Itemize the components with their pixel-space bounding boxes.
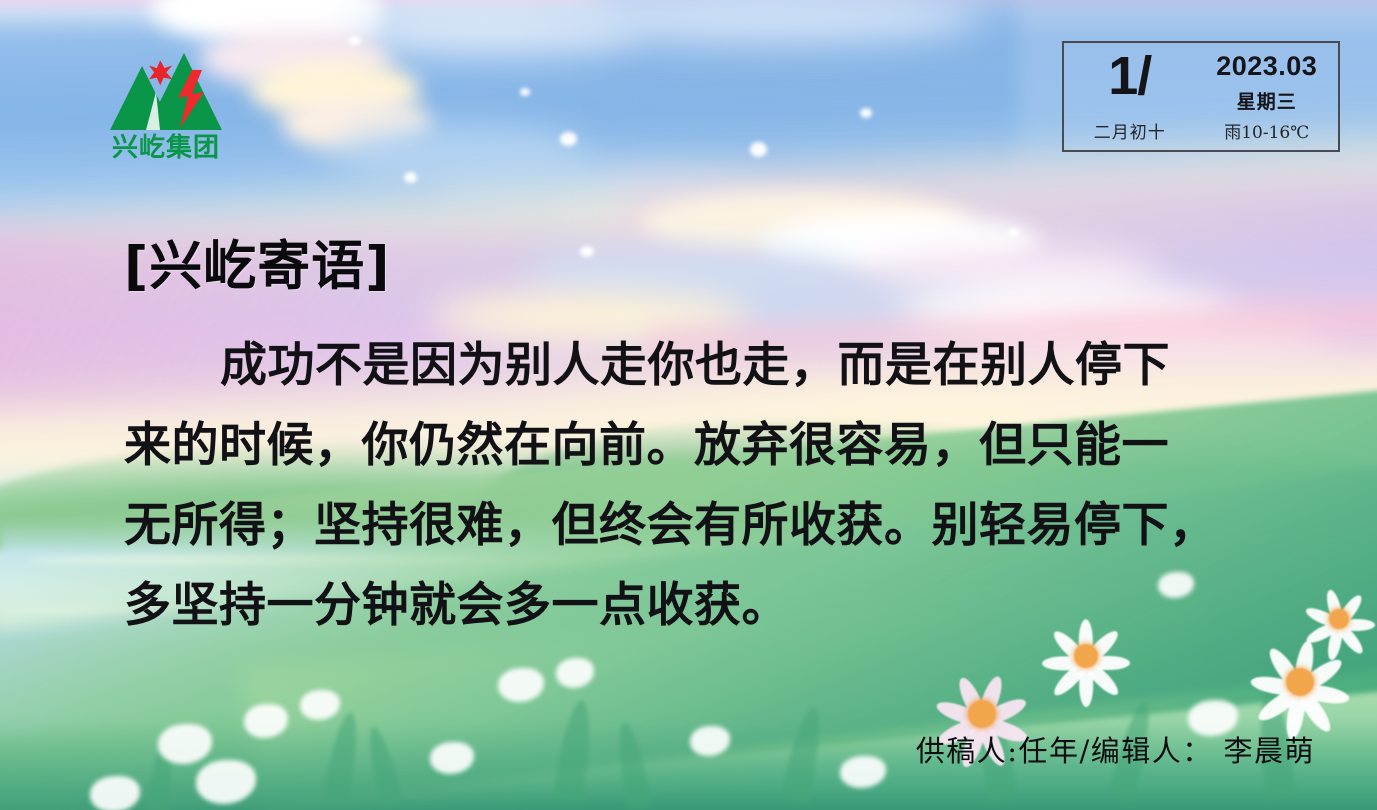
quote-paragraph: 成功不是因为别人走你也走，而是在别人停下 来的时候，你仍然在向前。放弃很容易，但…: [124, 326, 1294, 646]
quote-line: 成功不是因为别人走你也走，而是在别人停下: [124, 326, 1294, 406]
date-card: 1/ 二月初十 2023.03 星期三 雨10-16℃: [1062, 41, 1340, 152]
date-year-month: 2023.03: [1196, 51, 1338, 82]
daisy-flower: [1300, 580, 1377, 658]
date-weekday: 星期三: [1196, 87, 1338, 114]
poster-canvas: 兴屹集团 1/ 二月初十 2023.03 星期三 雨10-16℃ [兴屹寄语] …: [0, 0, 1377, 810]
company-logo: 兴屹集团: [96, 36, 236, 164]
quote-line: 来的时候，你仍然在向前。放弃很容易，但只能一: [124, 406, 1294, 486]
quote-line: 无所得；坚持很难，但终会有所收获。别轻易停下，: [124, 486, 1294, 566]
logo-star-icon: [149, 60, 172, 85]
quote-line: 多坚持一分钟就会多一点收获。: [124, 566, 1294, 646]
date-lunar: 二月初十: [1064, 118, 1196, 143]
page-title: [兴屹寄语]: [124, 224, 390, 300]
date-day-number: 1/: [1064, 49, 1196, 103]
date-card-right-column: 2023.03 星期三 雨10-16℃: [1196, 43, 1338, 150]
date-weather: 雨10-16℃: [1196, 118, 1338, 143]
credit-line: 供稿人:任年/编辑人： 李晨萌: [916, 728, 1315, 770]
date-card-left-column: 1/ 二月初十: [1064, 43, 1196, 150]
logo-wordmark: 兴屹集团: [112, 132, 220, 163]
